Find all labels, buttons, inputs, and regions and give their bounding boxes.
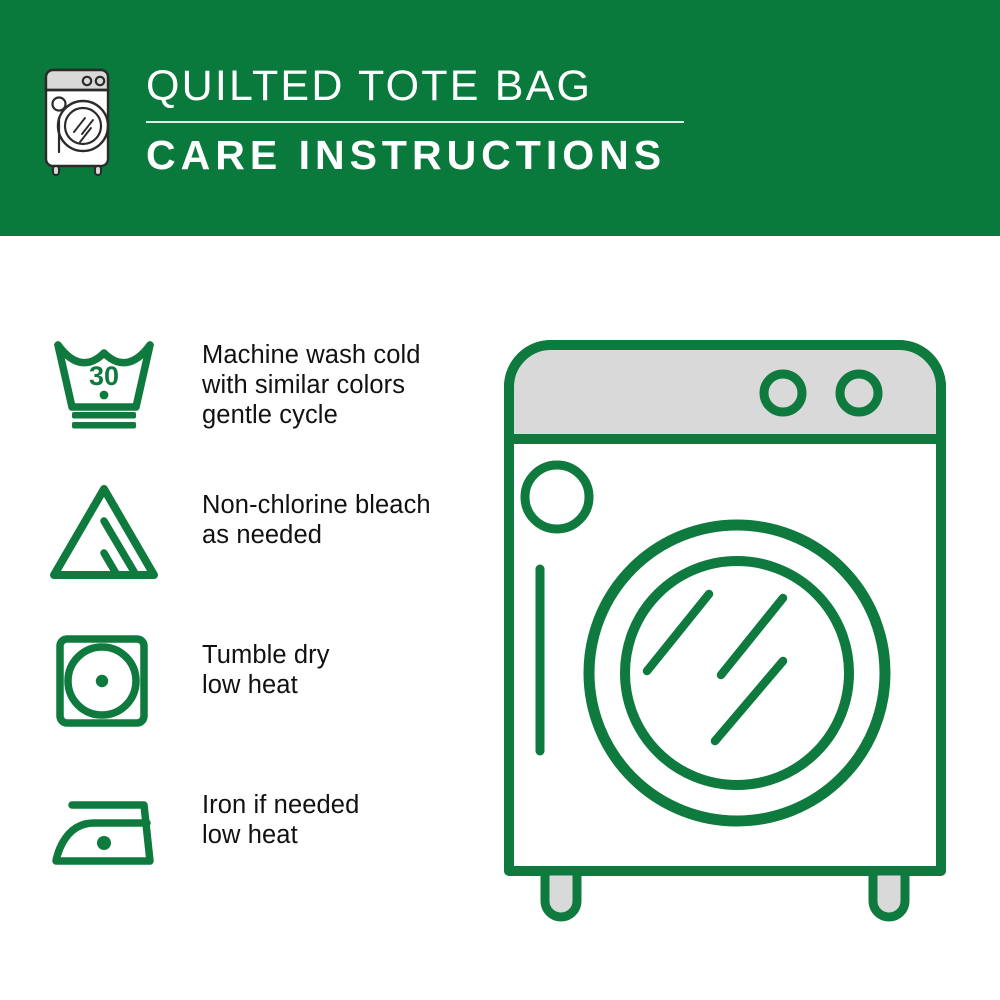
tumble-dry-low-heat-icon bbox=[48, 631, 166, 731]
care-text-line: low heat bbox=[202, 820, 359, 850]
header-content: QUILTED TOTE BAG CARE INSTRUCTIONS bbox=[40, 62, 684, 178]
care-text-iron: Iron if needed low heat bbox=[202, 790, 359, 850]
header-band: QUILTED TOTE BAG CARE INSTRUCTIONS bbox=[0, 0, 1000, 236]
wash-temperature-label: 30 bbox=[89, 361, 119, 391]
washing-machine-icon bbox=[40, 66, 118, 178]
care-row-bleach: Non-chlorine bleach as needed bbox=[48, 481, 478, 631]
front-load-washing-machine-illustration bbox=[495, 331, 955, 931]
care-row-tumble-dry: Tumble dry low heat bbox=[48, 631, 478, 781]
care-row-iron: Iron if needed low heat bbox=[48, 781, 478, 931]
iron-low-heat-icon bbox=[48, 781, 166, 881]
care-instructions-page: QUILTED TOTE BAG CARE INSTRUCTIONS bbox=[0, 0, 1000, 1000]
care-text-line: Non-chlorine bleach bbox=[202, 490, 431, 520]
care-instruction-list: 30 Machine wash cold with similar colors… bbox=[48, 331, 478, 931]
care-text-line: as needed bbox=[202, 520, 431, 550]
wash-basin-30-gentle-icon: 30 bbox=[48, 331, 166, 431]
care-text-line: Iron if needed bbox=[202, 790, 359, 820]
care-text-line: with similar colors bbox=[202, 370, 421, 400]
care-text-line: gentle cycle bbox=[202, 400, 421, 430]
page-subtitle: CARE INSTRUCTIONS bbox=[146, 132, 684, 178]
care-text-line: low heat bbox=[202, 670, 330, 700]
care-text-line: Tumble dry bbox=[202, 640, 330, 670]
body-area: 30 Machine wash cold with similar colors… bbox=[0, 236, 1000, 1000]
machine-leg-left bbox=[545, 871, 577, 917]
non-chlorine-bleach-triangle-icon bbox=[48, 481, 166, 581]
care-text-bleach: Non-chlorine bleach as needed bbox=[202, 490, 431, 550]
care-row-machine-wash: 30 Machine wash cold with similar colors… bbox=[48, 331, 478, 481]
care-text-machine-wash: Machine wash cold with similar colors ge… bbox=[202, 340, 421, 430]
title-divider bbox=[146, 121, 684, 123]
machine-leg-right bbox=[873, 871, 905, 917]
page-title: QUILTED TOTE BAG bbox=[146, 62, 684, 110]
header-text-block: QUILTED TOTE BAG CARE INSTRUCTIONS bbox=[146, 62, 684, 178]
care-text-tumble-dry: Tumble dry low heat bbox=[202, 640, 330, 700]
care-text-line: Machine wash cold bbox=[202, 340, 421, 370]
